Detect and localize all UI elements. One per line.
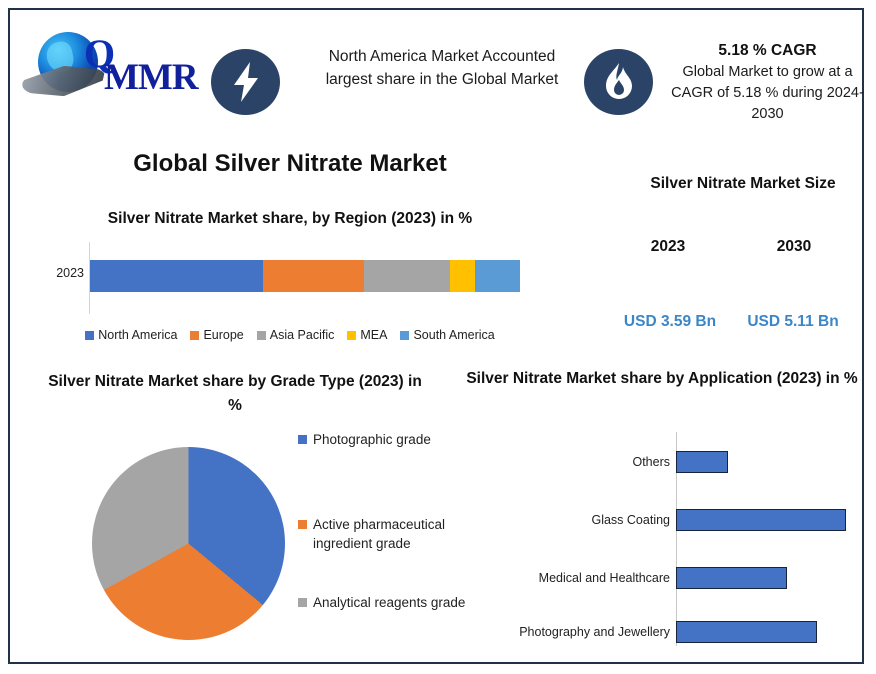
region-legend: North AmericaEuropeAsia PacificMEASouth … bbox=[30, 328, 550, 342]
application-bar bbox=[676, 451, 728, 473]
market-size-value-base: USD 3.59 Bn bbox=[610, 313, 730, 331]
grade-type-legend-label: Analytical reagents grade bbox=[313, 593, 465, 612]
legend-swatch-icon bbox=[85, 331, 94, 340]
region-segment-mea bbox=[450, 260, 475, 292]
application-bar bbox=[676, 509, 846, 531]
grade-type-chart-title: Silver Nitrate Market share by Grade Typ… bbox=[40, 370, 430, 418]
market-size-year-base: 2023 bbox=[622, 238, 714, 256]
grade-type-legend-item: Active pharmaceutical ingredient grade bbox=[298, 515, 473, 553]
application-chart-title: Silver Nitrate Market share by Applicati… bbox=[462, 367, 862, 391]
region-legend-item: South America bbox=[400, 328, 494, 342]
region-category-label: 2023 bbox=[38, 266, 84, 280]
market-size-title: Silver Nitrate Market Size bbox=[610, 175, 876, 193]
region-chart-title: Silver Nitrate Market share, by Region (… bbox=[30, 210, 550, 228]
application-category-label: Medical and Healthcare bbox=[480, 571, 676, 585]
region-legend-item: Asia Pacific bbox=[257, 328, 335, 342]
application-bar-row: Photography and Jewellery bbox=[480, 620, 870, 644]
region-stacked-bar bbox=[90, 260, 520, 292]
logo-wordmark: MMR bbox=[104, 56, 198, 99]
region-legend-label: North America bbox=[98, 328, 177, 342]
grade-type-pie-chart bbox=[92, 447, 285, 640]
application-bar-row: Glass Coating bbox=[480, 508, 870, 532]
application-bar-row: Others bbox=[480, 450, 870, 474]
page-title: Global Silver Nitrate Market bbox=[10, 150, 570, 178]
cagr-value: 5.18 % CAGR bbox=[660, 42, 875, 60]
grade-type-legend-item: Photographic grade bbox=[298, 430, 473, 449]
legend-swatch-icon bbox=[298, 598, 307, 607]
application-bar-chart: OthersGlass CoatingMedical and Healthcar… bbox=[480, 430, 870, 648]
flame-icon bbox=[584, 49, 653, 115]
application-category-label: Photography and Jewellery bbox=[480, 625, 676, 639]
grade-type-legend-label: Active pharmaceutical ingredient grade bbox=[313, 515, 473, 553]
grade-type-legend-item: Analytical reagents grade bbox=[298, 593, 473, 612]
legend-swatch-icon bbox=[400, 331, 409, 340]
market-size-year-forecast: 2030 bbox=[748, 238, 840, 256]
region-legend-item: North America bbox=[85, 328, 177, 342]
legend-swatch-icon bbox=[190, 331, 199, 340]
lightning-bolt-icon bbox=[211, 49, 280, 115]
region-segment-south-america bbox=[475, 260, 520, 292]
region-legend-label: Asia Pacific bbox=[270, 328, 335, 342]
legend-swatch-icon bbox=[347, 331, 356, 340]
region-segment-europe bbox=[263, 260, 364, 292]
application-category-label: Glass Coating bbox=[480, 513, 676, 527]
infographic-frame: Q MMR North America Market Accounted lar… bbox=[8, 8, 864, 664]
grade-type-legend-label: Photographic grade bbox=[313, 430, 431, 449]
grade-type-legend: Photographic gradeActive pharmaceutical … bbox=[298, 430, 478, 640]
legend-swatch-icon bbox=[257, 331, 266, 340]
region-legend-item: Europe bbox=[190, 328, 243, 342]
cagr-block: 5.18 % CAGR Global Market to grow at a C… bbox=[660, 42, 875, 125]
application-category-label: Others bbox=[480, 455, 676, 469]
application-bar bbox=[676, 621, 817, 643]
region-segment-asia-pacific bbox=[364, 260, 450, 292]
region-legend-item: MEA bbox=[347, 328, 387, 342]
market-size-value-forecast: USD 5.11 Bn bbox=[732, 313, 854, 331]
region-stacked-bar-chart: 2023 bbox=[30, 242, 550, 314]
north-america-note: North America Market Accounted largest s… bbox=[306, 45, 578, 91]
application-bar bbox=[676, 567, 787, 589]
region-segment-north-america bbox=[90, 260, 263, 292]
cagr-note: Global Market to grow at a CAGR of 5.18 … bbox=[660, 62, 875, 125]
region-legend-label: MEA bbox=[360, 328, 387, 342]
legend-swatch-icon bbox=[298, 520, 307, 529]
mmr-logo: Q MMR bbox=[20, 28, 200, 100]
region-legend-label: Europe bbox=[203, 328, 243, 342]
legend-swatch-icon bbox=[298, 435, 307, 444]
application-bar-row: Medical and Healthcare bbox=[480, 566, 870, 590]
region-legend-label: South America bbox=[413, 328, 494, 342]
